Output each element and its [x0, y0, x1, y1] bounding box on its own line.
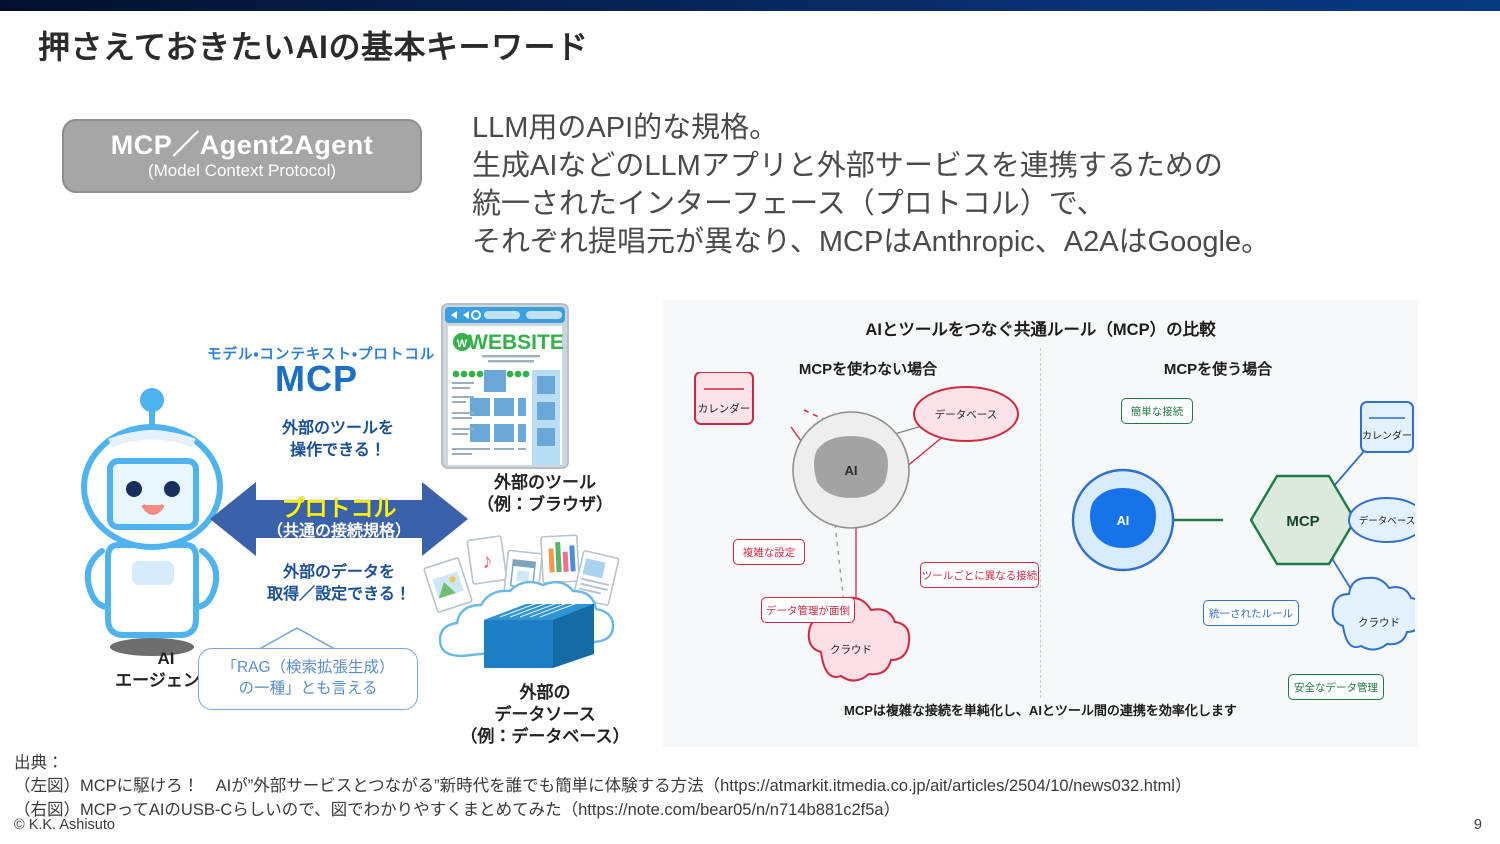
datasource-caption: 外部の データソース （例：データベース） [420, 682, 670, 748]
datasource-caption-line3: （例：データベース） [460, 727, 629, 746]
tag-easy-connection: 簡単な接続 [1121, 398, 1193, 424]
keyword-badge-sub: (Model Context Protocol) [148, 160, 336, 181]
description-line-1: LLM用のAPI的な規格。 [472, 110, 1270, 148]
tag-unified-rules: 統一されたルール [1203, 600, 1299, 626]
data-note-line2: 取得／設定できる！ [267, 586, 411, 603]
svg-text:データベース: データベース [1359, 515, 1415, 527]
copyright-notice: © K.K. Ashisuto [14, 817, 115, 833]
source-heading: 出典： [14, 752, 1191, 775]
tag-data-management: データ管理が面倒 [761, 597, 855, 623]
without-mcp-graph: AI カレンダー データベース クラウド [671, 372, 1041, 702]
tag-safe-data-management: 安全なデータ管理 [1288, 674, 1384, 700]
svg-text:データベース: データベース [935, 408, 997, 421]
data-source-cloud-icon: ♪ [422, 528, 652, 688]
browser-caption-line2: （例：ブラウザ） [477, 495, 613, 514]
browser-window-icon: W WEBSITE [440, 302, 570, 470]
description-block: LLM用のAPI的な規格。 生成AIなどのLLMアプリと外部サービスを連携するた… [472, 110, 1270, 262]
svg-text:カレンダー: カレンダー [698, 402, 751, 415]
rag-callout-bubble: 「RAG（検索拡張生成） の一種」とも言える [198, 648, 418, 710]
svg-text:クラウド: クラウド [1358, 617, 1400, 629]
svg-text:カレンダー: カレンダー [1362, 429, 1412, 442]
data-note: 外部のデータを 取得／設定できる！ [246, 562, 432, 605]
tag-different-connections: ツールごとに異なる接続 [920, 562, 1039, 588]
svg-text:AI: AI [845, 463, 858, 478]
browser-caption-line1: 外部のツール [494, 473, 596, 492]
source-right-figure: （右図）MCPってAIのUSB-Cらしいので、図でわかりやすくまとめてみた（ht… [14, 799, 1191, 822]
description-line-4: それぞれ提唱元が異なり、MCPはAnthropic、A2AはGoogle。 [472, 224, 1270, 262]
svg-text:WEBSITE: WEBSITE [468, 331, 564, 354]
svg-text:MCP: MCP [1286, 513, 1319, 530]
keyword-badge: MCP／Agent2Agent (Model Context Protocol) [62, 119, 422, 193]
svg-text:W: W [457, 338, 468, 350]
rag-callout-text: 「RAG（検索拡張生成） の一種」とも言える [221, 658, 394, 700]
with-mcp-graph: AI MCP カレンダー データベース クラウド [1055, 372, 1415, 702]
page-title: 押さえておきたいAIの基本キーワード [38, 22, 588, 68]
browser-caption: 外部のツール （例：ブラウザ） [440, 472, 650, 516]
right-diagram-panel: AIとツールをつなぐ共通ルール（MCP）の比較 MCPを使わない場合 MCPを使… [663, 300, 1418, 747]
description-line-3: 統一されたインターフェース（プロトコル）で、 [472, 186, 1270, 224]
rag-callout-line2: の一種」とも言える [238, 680, 377, 697]
tool-note: 外部のツールを 操作できる！ [248, 418, 428, 461]
tag-complex-setup: 複雑な設定 [733, 539, 805, 565]
page-number: 9 [1474, 817, 1482, 833]
svg-text:AI: AI [1117, 514, 1130, 528]
slide-root: 押さえておきたいAIの基本キーワード MCP／Agent2Agent (Mode… [0, 0, 1500, 844]
comparison-title: AIとツールをつなぐ共通ルール（MCP）の比較 [663, 316, 1418, 340]
keyword-badge-main: MCP／Agent2Agent [111, 131, 374, 159]
datasource-caption-line2: データソース [494, 705, 595, 724]
source-notes: 出典： （左図）MCPに駆けろ！ AIが”外部サービスとつながる”新時代を誰でも… [14, 752, 1191, 822]
data-note-line1: 外部のデータを [283, 564, 395, 581]
rag-callout-line1: 「RAG（検索拡張生成） [221, 659, 394, 676]
left-diagram: AI エージェント モデル・コンテキスト・プロトコル MCP 外部のツールを 操… [20, 300, 660, 750]
datasource-caption-line1: 外部の [520, 683, 571, 702]
tool-note-line2: 操作できる！ [290, 442, 386, 459]
description-line-2: 生成AIなどのLLMアプリと外部サービスを連携するための [472, 148, 1270, 186]
source-left-figure: （左図）MCPに駆けろ！ AIが”外部サービスとつながる”新時代を誰でも簡単に体… [14, 775, 1191, 798]
tool-note-line1: 外部のツールを [282, 420, 394, 437]
mcp-title: MCP [275, 358, 358, 400]
svg-text:クラウド: クラウド [830, 644, 872, 656]
top-accent-bar [0, 0, 1500, 11]
ai-agent-caption-line1: AI [158, 649, 175, 668]
comparison-caption: MCPは複雑な接続を単純化し、AIとツール間の連携を効率化します [663, 700, 1418, 719]
